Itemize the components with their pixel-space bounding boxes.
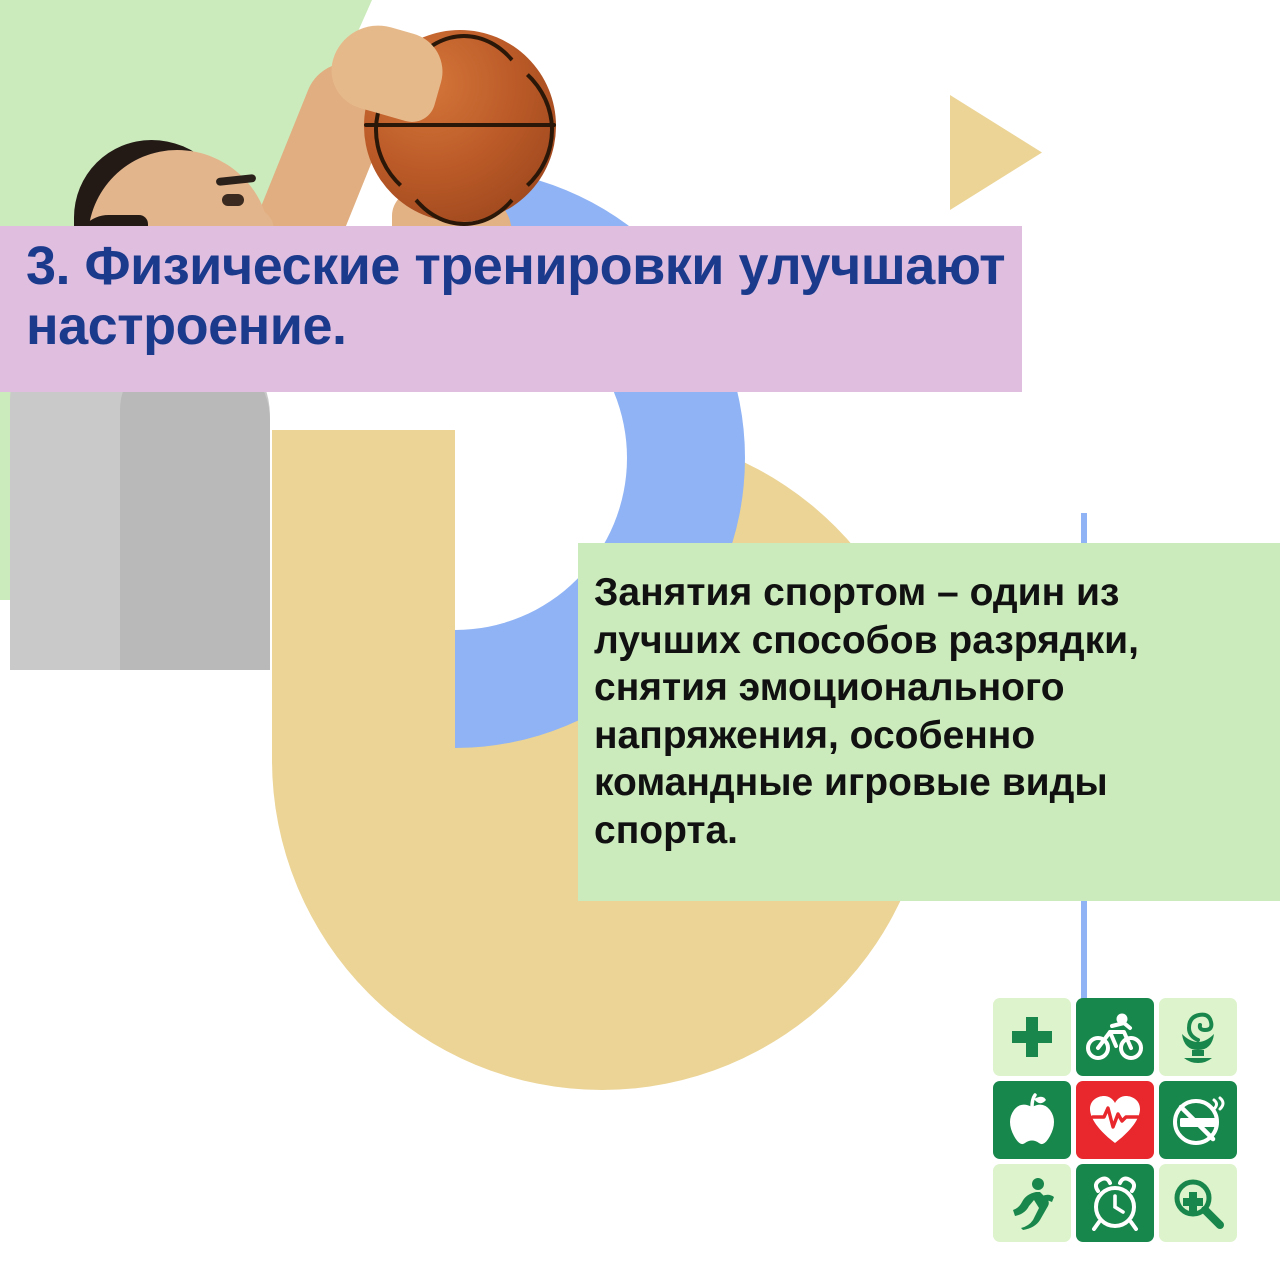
grey-tshirt-shading	[120, 350, 270, 670]
no-smoking-icon	[1170, 1094, 1226, 1146]
body-paragraph: Занятия спортом – один из лучших способо…	[594, 569, 1262, 854]
tile-cyclist[interactable]	[1076, 998, 1154, 1076]
cyclist-icon	[1086, 1012, 1144, 1062]
body-text-box: Занятия спортом – один из лучших способо…	[578, 543, 1280, 901]
magnifier-plus-icon	[1171, 1176, 1225, 1230]
pharmacy-bowl-icon	[1172, 1010, 1224, 1064]
apple-icon	[1006, 1093, 1058, 1147]
eye	[222, 194, 244, 206]
medical-cross-icon	[1007, 1012, 1057, 1062]
tile-runner[interactable]	[993, 1164, 1071, 1242]
tile-medical-cross[interactable]	[993, 998, 1071, 1076]
yellow-play-triangle	[950, 95, 1042, 210]
health-icon-grid	[993, 998, 1243, 1248]
tile-no-smoking[interactable]	[1159, 1081, 1237, 1159]
tile-apple[interactable]	[993, 1081, 1071, 1159]
alarm-clock-icon	[1087, 1175, 1143, 1231]
heart-pulse-icon	[1088, 1095, 1142, 1145]
page-title: 3. Физические тренировки улучшают настро…	[26, 236, 1022, 357]
tile-alarm-clock[interactable]	[1076, 1164, 1154, 1242]
tile-heart-pulse[interactable]	[1076, 1081, 1154, 1159]
runner-icon	[1006, 1176, 1058, 1230]
tile-magnifier-plus[interactable]	[1159, 1164, 1237, 1242]
tile-pharmacy-bowl[interactable]	[1159, 998, 1237, 1076]
title-banner: 3. Физические тренировки улучшают настро…	[0, 226, 1022, 392]
slide-canvas: 3. Физические тренировки улучшают настро…	[0, 0, 1280, 1280]
